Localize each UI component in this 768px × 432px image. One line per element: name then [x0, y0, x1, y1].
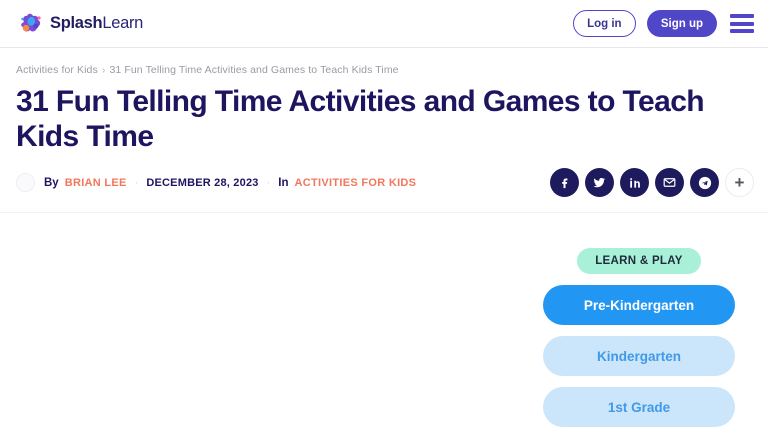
- page-title: 31 Fun Telling Time Activities and Games…: [16, 84, 746, 154]
- breadcrumb: Activities for Kids›31 Fun Telling Time …: [16, 64, 399, 76]
- article-byline: By BRIAN LEE · DECEMBER 28, 2023 · In AC…: [16, 173, 416, 192]
- telegram-icon[interactable]: [690, 168, 719, 197]
- hamburger-menu-icon[interactable]: [730, 14, 754, 33]
- hamburger-bar: [730, 14, 754, 18]
- breadcrumb-separator-icon: ›: [102, 64, 106, 76]
- grade-selector: LEARN & PLAY Pre-Kindergarten Kindergart…: [543, 248, 735, 427]
- byline-separator: ·: [135, 177, 139, 189]
- by-label: By: [44, 177, 59, 189]
- byline-separator: ·: [267, 177, 271, 189]
- publish-date: DECEMBER 28, 2023: [146, 177, 258, 189]
- more-share-options-button[interactable]: +: [725, 168, 754, 197]
- learn-and-play-badge: LEARN & PLAY: [577, 248, 701, 274]
- social-share-bar: +: [550, 168, 754, 197]
- grade-pill-kindergarten[interactable]: Kindergarten: [543, 336, 735, 376]
- in-label: In: [278, 177, 288, 189]
- content-divider: [0, 212, 768, 213]
- brand-logo[interactable]: SplashLearn: [18, 12, 143, 36]
- login-button[interactable]: Log in: [573, 10, 636, 37]
- breadcrumb-current: 31 Fun Telling Time Activities and Games…: [109, 64, 398, 76]
- signup-button[interactable]: Sign up: [647, 10, 717, 37]
- email-icon[interactable]: [655, 168, 684, 197]
- author-link[interactable]: BRIAN LEE: [65, 177, 127, 189]
- hamburger-bar: [730, 29, 754, 33]
- splash-logo-icon: [18, 12, 44, 36]
- grade-pill-pre-kindergarten[interactable]: Pre-Kindergarten: [543, 285, 735, 325]
- brand-name: SplashLearn: [50, 14, 143, 33]
- hamburger-bar: [730, 22, 754, 26]
- page-root: SplashLearn Log in Sign up Activities fo…: [0, 0, 768, 432]
- site-header: SplashLearn Log in Sign up: [0, 0, 768, 48]
- twitter-icon[interactable]: [585, 168, 614, 197]
- header-actions: Log in Sign up: [573, 10, 754, 37]
- facebook-icon[interactable]: [550, 168, 579, 197]
- breadcrumb-parent-link[interactable]: Activities for Kids: [16, 64, 98, 76]
- category-link[interactable]: ACTIVITIES FOR KIDS: [295, 177, 417, 189]
- linkedin-icon[interactable]: [620, 168, 649, 197]
- grade-pill-1st-grade[interactable]: 1st Grade: [543, 387, 735, 427]
- author-avatar: [16, 173, 35, 192]
